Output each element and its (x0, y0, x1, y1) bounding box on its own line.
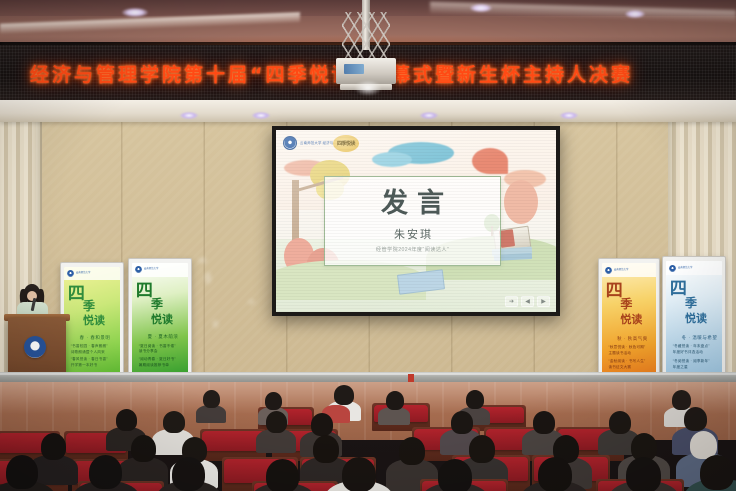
university-seal-icon (135, 266, 142, 273)
wall-mark (205, 272, 211, 284)
audience-head (466, 390, 484, 409)
slide-pen-icon[interactable]: ➔ (505, 296, 518, 307)
slide-tree-peach (504, 180, 538, 224)
wall-mark (248, 300, 255, 304)
slide-book-red (499, 229, 515, 248)
banner-line-1: “秋意悦读 · 秋色可期” (608, 345, 645, 350)
audience-head (6, 455, 38, 489)
seat (202, 431, 264, 451)
banner-logo-text: 云南师范大学 (678, 267, 692, 270)
audience-head (538, 457, 572, 491)
banner-title-char-3: 悦读 (685, 313, 707, 324)
projector-lens-glow (354, 80, 382, 96)
banner-header: 云南师范大学 (64, 267, 120, 280)
banner-spring: 云南师范大学 四 季 悦读 春 · 春和景明 “书香校园 · 春声朗朗” 诗歌朗… (60, 262, 124, 389)
banner-title-char-2: 季 (83, 300, 95, 312)
recessed-light (180, 112, 198, 119)
banner-title-char-2: 季 (151, 298, 163, 310)
audience-head (266, 411, 287, 433)
slide-nav-controls[interactable]: ➔ ◀ ▶ (505, 296, 550, 307)
recessed-light (252, 112, 270, 119)
banner-line-3: “阅动青春 · 夏日好书” (139, 357, 176, 362)
projector-cable (344, 64, 364, 74)
audience-head (313, 435, 339, 463)
projector-scissor-lift (342, 12, 390, 64)
university-seal-icon (605, 267, 612, 274)
audience-head (89, 455, 122, 489)
banner-header: 云南师范大学 (132, 263, 188, 277)
audience-head (131, 435, 156, 462)
banner-logo-text: 云南师范大学 (614, 269, 628, 272)
ceiling-projector (336, 0, 396, 98)
banner-line-1: “冬藏悦读 · 年末盘点” (673, 344, 710, 349)
banner-season-label: 秋 · 秋高气爽 (617, 336, 648, 342)
slide-title-card: 发言 朱安琪 经管学院2024年度“阅读达人” (324, 176, 501, 266)
banner-summer: 云南师范大学 四 季 悦读 夏 · 夏木荫浓 “夏日阅读 · 书香不倦” 读书分… (128, 258, 192, 390)
audience-head (41, 433, 66, 460)
banner-logo-text: 云南师范大学 (144, 268, 158, 271)
banner-logo-text: 云南师范大学 (76, 272, 90, 275)
slide-title: 发言 (372, 190, 453, 217)
recessed-light (420, 112, 438, 119)
audience-head (334, 385, 354, 405)
audience-head (116, 409, 137, 431)
banner-season-label: 夏 · 夏木荫浓 (148, 334, 179, 340)
slide-presenter-name: 朱安琪 (392, 226, 433, 242)
audience-head (265, 392, 282, 410)
university-seal-icon (283, 136, 297, 150)
banner-season-label: 春 · 春和景明 (80, 335, 111, 341)
banner-line-4: 暑期阅读推荐书单 (139, 363, 169, 368)
stage-edge-highlight (0, 373, 736, 375)
audience-head (399, 437, 425, 465)
banner-line-2: 年度好书评选活动 (673, 350, 703, 355)
audience-head (311, 413, 333, 436)
banner-title-char-2: 季 (620, 298, 632, 310)
banner-season-label: 冬 · 温暖与希望 (682, 335, 718, 341)
projection-screen: 云南师范大学 经济与管理学院 四季悦读 发言 朱安琪 经管学院2024年度“阅读… (272, 126, 560, 316)
audience-head (533, 411, 555, 434)
banner-title-char-3: 悦读 (83, 315, 105, 326)
banner-line-4: 年度之星 (673, 365, 688, 370)
banner-line-3: “冬阅悦读 · 阅享新年” (673, 359, 710, 364)
banner-summer-art: 云南师范大学 四 季 悦读 夏 · 夏木荫浓 “夏日阅读 · 书香不倦” 读书分… (132, 263, 188, 378)
banner-title-char-1: 四 (670, 281, 688, 297)
banner-line-4: 读书征文大赛 (608, 365, 631, 370)
ceiling-downlight (122, 8, 148, 17)
slide-next-icon[interactable]: ▶ (537, 296, 550, 307)
banner-line-2: 读书分享会 (139, 349, 158, 354)
banner-title-char-2: 季 (685, 297, 697, 309)
audience-head (609, 411, 631, 434)
audience-head (163, 411, 185, 433)
audience-head (386, 391, 404, 410)
recessed-light (560, 112, 578, 119)
auditorium-photo: 经济与管理学院第十届“四季悦读”开幕式暨新生杯主持人决赛 (0, 0, 736, 491)
banner-spring-art: 云南师范大学 四 季 悦读 春 · 春和景明 “书香校园 · 春声朗朗” 诗歌朗… (64, 267, 120, 377)
audience-head (172, 457, 205, 491)
banner-autumn-art: 云南师范大学 四 季 悦读 秋 · 秋高气爽 “秋意悦读 · 秋色可期” 主题读… (602, 263, 656, 380)
audience-head (700, 455, 734, 490)
banner-title-char-3: 悦读 (151, 314, 173, 325)
slide-subtitle: 经管学院2024年度“阅读达人” (376, 246, 449, 253)
audience-head (451, 411, 473, 434)
ceiling-downlight (625, 10, 645, 18)
audience-head (626, 457, 661, 491)
audience-head (672, 390, 691, 410)
slide-prev-icon[interactable]: ◀ (521, 296, 534, 307)
ceiling-downlight (470, 4, 492, 12)
university-seal-icon (24, 336, 46, 358)
audience-head (469, 435, 495, 463)
slide-cloud-pink (472, 148, 508, 174)
banner-line-2: 主题读书活动 (608, 351, 631, 356)
banner-line-2: 诗歌朗诵暨个人风采 (71, 350, 105, 355)
audience-head (266, 459, 299, 491)
banner-line-4: 开学第一本好书 (71, 363, 98, 368)
banner-winter-art: 云南师范大学 四 季 悦读 冬 · 温暖与希望 “冬藏悦读 · 年末盘点” 年度… (666, 261, 722, 380)
audience-seating-area (0, 385, 736, 491)
university-seal-icon (669, 265, 676, 272)
banner-title-char-3: 悦读 (620, 314, 642, 325)
upper-wall-ledge (0, 100, 736, 122)
banner-header: 云南师范大学 (666, 261, 722, 275)
audience-head (438, 459, 472, 491)
wall-mark (198, 258, 207, 263)
wall-mark (213, 320, 218, 328)
banner-header: 云南师范大学 (602, 263, 656, 277)
audience-head (684, 407, 707, 431)
slide-cloud-blue (372, 152, 412, 167)
stage-edge-marker (408, 374, 414, 382)
slide-event-badge: 四季悦读 (333, 135, 359, 152)
audience-head (203, 390, 220, 408)
university-seal-icon (67, 270, 74, 277)
slide-surface: 云南师范大学 经济与管理学院 四季悦读 发言 朱安琪 经管学院2024年度“阅读… (276, 130, 556, 312)
audience-head (342, 457, 376, 491)
banner-line-3: “金秋阅读 · 书写人生” (608, 359, 645, 364)
